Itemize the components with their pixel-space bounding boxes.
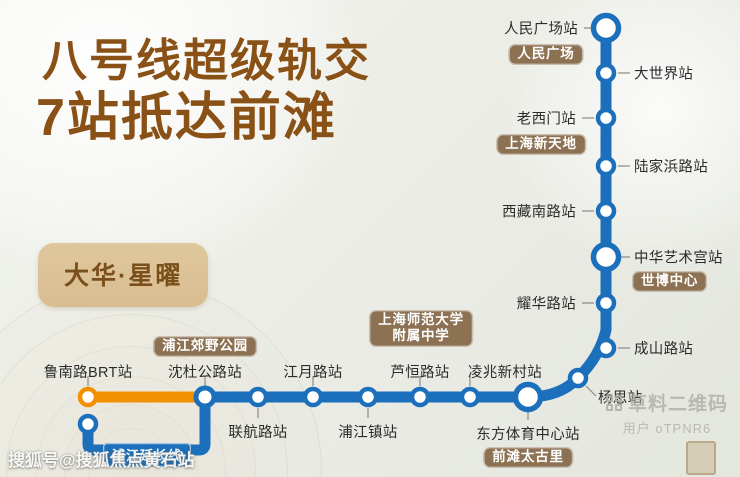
qr-code-icon xyxy=(606,395,622,411)
connector-yangsi xyxy=(586,386,596,396)
station-label-pujiang-zhen[interactable]: 浦江镇站 xyxy=(338,421,397,442)
station-label-zhonghua-yishugong[interactable]: 中华艺术宫站 xyxy=(634,247,723,268)
station-label-lianhang-lu[interactable]: 联航路站 xyxy=(228,421,287,442)
station-label-lujiabang-lu[interactable]: 陆家浜路站 xyxy=(634,156,708,177)
poi-badge-pujiang-jiaoye-gongyuan: 浦江郊野公园 xyxy=(153,336,257,357)
station-node-laoximen[interactable] xyxy=(598,110,614,126)
poi-badge-shanghai-xintiandi: 上海新天地 xyxy=(496,134,586,155)
watermark-qr-row: 草料二维码 xyxy=(606,389,728,416)
poi-badge-renmin-guangchang: 人民广场 xyxy=(508,44,583,65)
station-label-dashijie[interactable]: 大世界站 xyxy=(634,63,693,84)
station-label-luheng-lu[interactable]: 芦恒路站 xyxy=(390,361,449,382)
station-node-branch-terminus[interactable] xyxy=(80,416,96,432)
poi-line-2: 附属中学 xyxy=(378,328,464,344)
watermark-title: 草料二维码 xyxy=(628,389,728,416)
headline-line-1: 八号线超级轨交 xyxy=(42,38,371,84)
brand-chip: 大华·星曜 xyxy=(38,243,208,307)
station-label-renmin-guangchang[interactable]: 人民广场站 xyxy=(504,18,578,39)
station-label-jiangyue-lu[interactable]: 江月路站 xyxy=(283,361,342,382)
poi-badge-shibo-zhongxin: 世博中心 xyxy=(632,271,707,292)
station-node-jiangyue-lu[interactable] xyxy=(305,389,321,405)
station-node-lingzhao-xincun[interactable] xyxy=(462,389,478,405)
watermark-user-id: 用户 oTPNR6 xyxy=(606,418,728,437)
station-node-xizang-nan-lu[interactable] xyxy=(598,203,614,219)
station-label-dongfang-tiyu-zhongxin[interactable]: 东方体育中心站 xyxy=(476,423,580,444)
station-label-xizang-nan-lu[interactable]: 西藏南路站 xyxy=(502,201,576,222)
station-node-dongfang-tiyu-zhongxin[interactable] xyxy=(516,385,541,410)
station-node-shendu-gonglu[interactable] xyxy=(196,388,214,406)
station-label-lunan-lu-brt[interactable]: 鲁南路BRT站 xyxy=(44,361,133,382)
headline-line-2: 7站抵达前滩 xyxy=(36,92,371,145)
station-label-chengshan-lu[interactable]: 成山路站 xyxy=(634,338,693,359)
station-node-pujiang-zhen[interactable] xyxy=(360,389,376,405)
station-label-yaohua-lu[interactable]: 耀华路站 xyxy=(517,293,576,314)
poi-line-1: 上海师范大学 xyxy=(378,312,464,327)
metro-line-poster: 八号线超级轨交 7站抵达前滩 大华·星曜 xyxy=(0,0,740,477)
watermark-bottom-right: 草料二维码 用户 oTPNR6 xyxy=(606,389,728,437)
station-label-laoximen[interactable]: 老西门站 xyxy=(517,108,576,129)
station-label-lingzhao-xincun[interactable]: 凌兆新村站 xyxy=(468,361,542,382)
station-label-shendu-gonglu[interactable]: 沈杜公路站 xyxy=(168,361,242,382)
page-title: 八号线超级轨交 7站抵达前滩 xyxy=(42,38,371,145)
poi-badge-qiantan-taikooli: 前滩太古里 xyxy=(483,447,573,468)
station-node-luheng-lu[interactable] xyxy=(412,389,428,405)
station-node-chengshan-lu[interactable] xyxy=(598,340,614,356)
qr-code-thumbnail[interactable] xyxy=(686,441,716,475)
station-node-yaohua-lu[interactable] xyxy=(598,295,614,311)
station-node-zhonghua-yishugong[interactable] xyxy=(594,245,619,270)
watermark-bottom-left: 搜狐号@搜狐焦点黄石站 xyxy=(8,446,195,471)
station-node-yangsi[interactable] xyxy=(570,370,586,386)
station-node-renmin-guangchang[interactable] xyxy=(594,16,619,41)
poi-badge-shanghai-shifan-daxue-fuzhong: 上海师范大学 附属中学 xyxy=(369,310,473,347)
station-node-lunan-lu-brt[interactable] xyxy=(80,389,96,405)
station-node-dashijie[interactable] xyxy=(598,65,614,81)
station-node-lujiabang-lu[interactable] xyxy=(598,158,614,174)
station-node-lianhang-lu[interactable] xyxy=(250,389,266,405)
